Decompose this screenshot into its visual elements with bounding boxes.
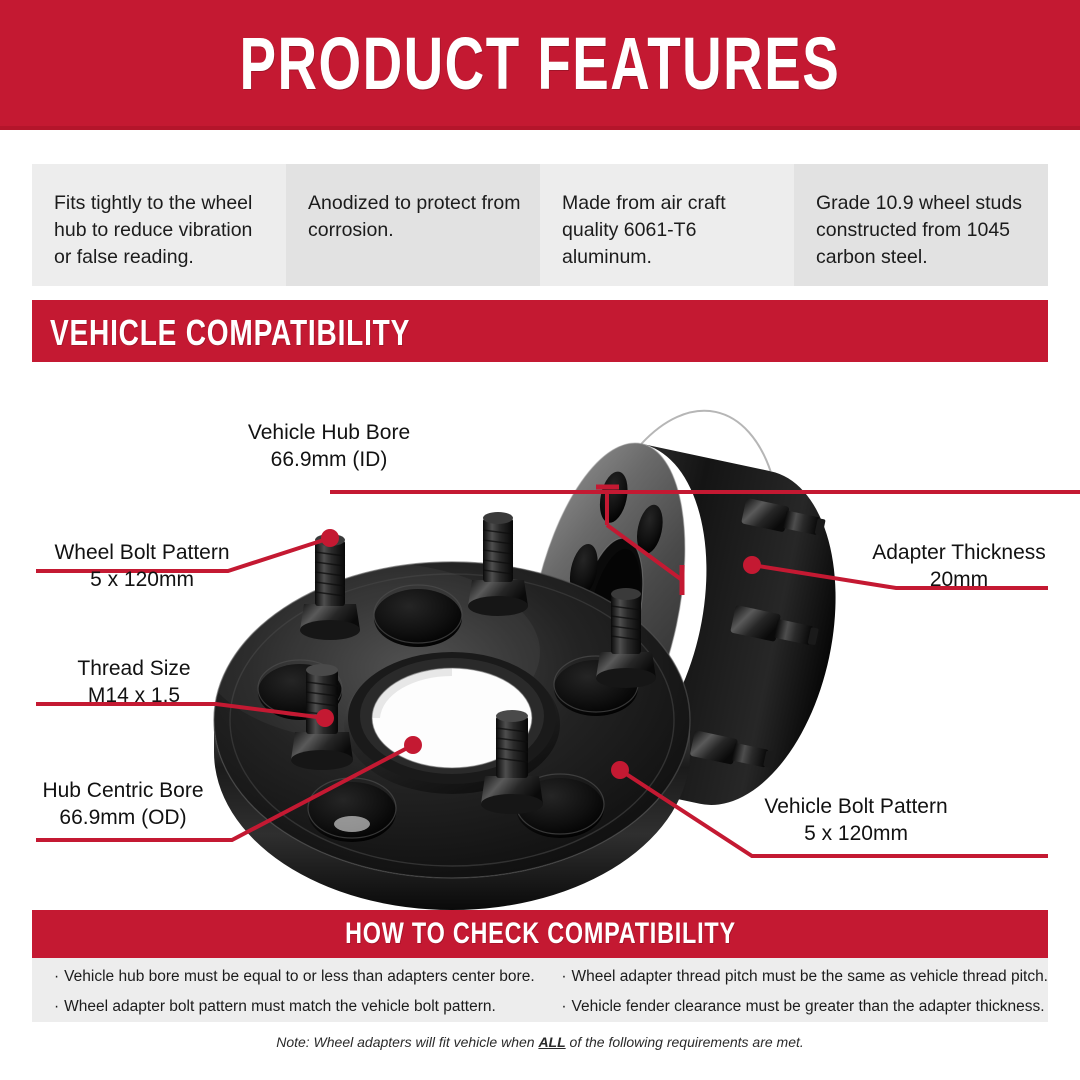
feature-card-2: Anodized to protect from corrosion. xyxy=(286,164,540,286)
feature-card-4: Grade 10.9 wheel studs constructed from … xyxy=(794,164,1048,286)
callout-wheel-bolt-pattern: Wheel Bolt Pattern 5 x 120mm xyxy=(52,540,232,593)
compatibility-note: Note: Wheel adapters will fit vehicle wh… xyxy=(0,1034,1080,1050)
feature-text: Fits tightly to the wheel hub to reduce … xyxy=(54,192,252,268)
note-prefix: Note: Wheel adapters will fit vehicle wh… xyxy=(276,1034,538,1050)
how-to-check-banner: HOW TO CHECK COMPATIBILITY xyxy=(32,910,1048,958)
callout-value: 5 x 120mm xyxy=(52,567,232,594)
callout-label: Vehicle Bolt Pattern xyxy=(764,795,947,818)
requirement-item: ·Vehicle hub bore must be equal to or le… xyxy=(54,968,539,986)
callout-label: Thread Size xyxy=(77,657,190,680)
bullet-icon: · xyxy=(561,968,566,985)
feature-text: Grade 10.9 wheel studs constructed from … xyxy=(816,192,1022,268)
requirement-item: ·Wheel adapter thread pitch must be the … xyxy=(561,968,1048,986)
callout-label: Hub Centric Bore xyxy=(42,779,203,802)
product-diagram: Vehicle Hub Bore 66.9mm (ID) Wheel Bolt … xyxy=(0,300,1080,910)
header-divider xyxy=(0,126,1080,130)
requirement-text: Wheel adapter thread pitch must be the s… xyxy=(572,968,1048,985)
callout-label: Vehicle Hub Bore xyxy=(248,421,410,444)
how-to-check-title: HOW TO CHECK COMPATIBILITY xyxy=(345,917,736,951)
requirement-item: ·Vehicle fender clearance must be greate… xyxy=(561,998,1048,1016)
requirements-panel: ·Vehicle hub bore must be equal to or le… xyxy=(32,958,1048,1022)
requirement-text: Wheel adapter bolt pattern must match th… xyxy=(64,998,496,1015)
feature-text: Made from air craft quality 6061-T6 alum… xyxy=(562,192,726,268)
callout-value: 20mm xyxy=(866,567,1052,594)
feature-card-3: Made from air craft quality 6061-T6 alum… xyxy=(540,164,794,286)
callout-thread-size: Thread Size M14 x 1.5 xyxy=(58,656,210,709)
callout-value: 5 x 120mm xyxy=(760,821,952,848)
requirements-column-right: ·Wheel adapter thread pitch must be the … xyxy=(539,958,1048,1022)
bullet-icon: · xyxy=(54,998,59,1015)
product-features-row: Fits tightly to the wheel hub to reduce … xyxy=(32,164,1048,286)
callout-vehicle-hub-bore: Vehicle Hub Bore 66.9mm (ID) xyxy=(244,420,414,473)
callout-label: Wheel Bolt Pattern xyxy=(54,541,229,564)
requirement-text: Vehicle fender clearance must be greater… xyxy=(572,998,1045,1015)
header-banner: PRODUCT FEATURES xyxy=(0,0,1080,126)
note-suffix: of the following requirements are met. xyxy=(566,1034,804,1050)
callout-vehicle-bolt-pattern: Vehicle Bolt Pattern 5 x 120mm xyxy=(760,794,952,847)
page-title: PRODUCT FEATURES xyxy=(240,21,841,106)
bullet-icon: · xyxy=(54,968,59,985)
feature-card-1: Fits tightly to the wheel hub to reduce … xyxy=(32,164,286,286)
requirement-text: Vehicle hub bore must be equal to or les… xyxy=(64,968,534,985)
feature-text: Anodized to protect from corrosion. xyxy=(308,192,520,241)
requirements-column-left: ·Vehicle hub bore must be equal to or le… xyxy=(32,958,539,1022)
callout-hub-centric-bore: Hub Centric Bore 66.9mm (OD) xyxy=(30,778,216,831)
callout-adapter-thickness: Adapter Thickness 20mm xyxy=(866,540,1052,593)
callout-value: 66.9mm (OD) xyxy=(30,805,216,832)
callout-value: 66.9mm (ID) xyxy=(244,447,414,474)
callout-value: M14 x 1.5 xyxy=(58,683,210,710)
note-emphasis: ALL xyxy=(538,1034,565,1050)
bullet-icon: · xyxy=(561,998,566,1015)
requirement-item: ·Wheel adapter bolt pattern must match t… xyxy=(54,998,539,1016)
callout-label: Adapter Thickness xyxy=(872,541,1046,564)
